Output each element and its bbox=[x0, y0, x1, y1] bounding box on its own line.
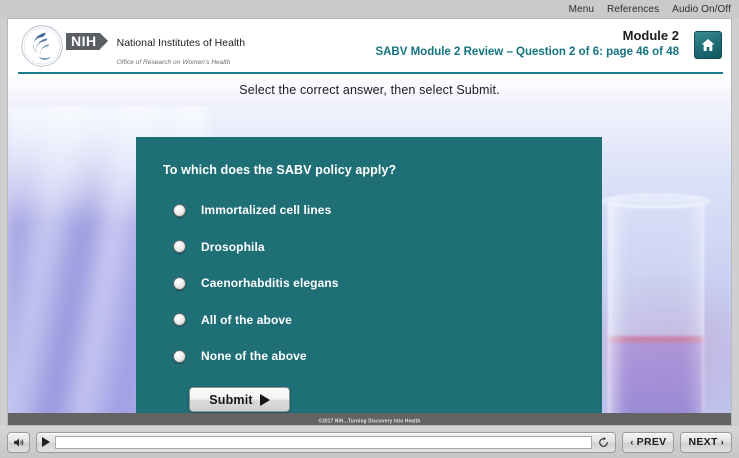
instruction-text: Select the correct answer, then select S… bbox=[239, 83, 500, 97]
office-name: Office of Research on Women's Health bbox=[117, 59, 231, 66]
replay-icon[interactable] bbox=[597, 436, 610, 449]
answer-option-label: Immortalized cell lines bbox=[201, 203, 331, 217]
progress-track[interactable] bbox=[55, 436, 592, 449]
question-panel: To which does the SABV policy apply? Imm… bbox=[136, 137, 602, 426]
home-button[interactable] bbox=[694, 31, 722, 59]
answer-option-1[interactable]: Immortalized cell lines bbox=[173, 192, 573, 229]
menu-link-menu[interactable]: Menu bbox=[569, 4, 594, 15]
breadcrumb: SABV Module 2 Review – Question 2 of 6: … bbox=[375, 44, 679, 60]
page-header: NIH National Institutes of Health Office… bbox=[8, 19, 731, 72]
play-triangle-icon bbox=[260, 394, 270, 406]
radio-button-icon[interactable] bbox=[173, 204, 186, 217]
scrubber[interactable] bbox=[36, 432, 616, 453]
module-title: Module 2 bbox=[375, 27, 679, 44]
elearning-player-window: Menu References Audio On/Off NIH Nationa… bbox=[0, 0, 739, 458]
beaker-rim-graphic bbox=[602, 194, 710, 208]
radio-button-icon[interactable] bbox=[173, 350, 186, 363]
menu-link-audio-on-off[interactable]: Audio On/Off bbox=[672, 4, 731, 15]
answer-option-2[interactable]: Drosophila bbox=[173, 229, 573, 266]
answer-option-label: Drosophila bbox=[201, 240, 265, 254]
playback-control-bar: ‹ PREV NEXT › bbox=[0, 426, 739, 458]
copyright-bar: ©2017 NIH...Turning Discovery Into Healt… bbox=[8, 413, 731, 426]
header-titles: Module 2 SABV Module 2 Review – Question… bbox=[375, 27, 679, 60]
submit-button[interactable]: Submit bbox=[189, 387, 290, 412]
answer-options: Immortalized cell lines Drosophila Caeno… bbox=[173, 192, 573, 375]
answer-option-5[interactable]: None of the above bbox=[173, 338, 573, 375]
nih-mark: NIH bbox=[66, 33, 100, 50]
copyright-text: ©2017 NIH...Turning Discovery Into Healt… bbox=[319, 417, 421, 423]
question-text: To which does the SABV policy apply? bbox=[163, 163, 396, 177]
top-menu-strip: Menu References Audio On/Off bbox=[0, 0, 739, 18]
answer-option-label: All of the above bbox=[201, 313, 292, 327]
prev-button[interactable]: ‹ PREV bbox=[622, 432, 674, 453]
next-button[interactable]: NEXT › bbox=[680, 432, 732, 453]
answer-option-label: None of the above bbox=[201, 349, 307, 363]
answer-option-label: Caenorhabditis elegans bbox=[201, 276, 339, 290]
hhs-seal-icon bbox=[20, 24, 64, 68]
radio-button-icon[interactable] bbox=[173, 313, 186, 326]
chevron-left-icon: ‹ bbox=[630, 437, 633, 447]
agency-name: National Institutes of Health bbox=[117, 37, 245, 49]
next-button-label: NEXT bbox=[688, 436, 717, 448]
play-icon[interactable] bbox=[42, 437, 50, 447]
beaker-graphic bbox=[608, 198, 704, 426]
slide-stage: Select the correct answer, then select S… bbox=[8, 74, 731, 426]
player-frame: NIH National Institutes of Health Office… bbox=[7, 18, 732, 426]
speaker-icon bbox=[12, 436, 25, 449]
menu-link-references[interactable]: References bbox=[607, 4, 659, 15]
instruction-band: Select the correct answer, then select S… bbox=[8, 74, 731, 106]
radio-button-icon[interactable] bbox=[173, 277, 186, 290]
prev-button-label: PREV bbox=[637, 436, 667, 448]
volume-button[interactable] bbox=[7, 432, 30, 453]
submit-button-label: Submit bbox=[209, 393, 253, 407]
answer-option-4[interactable]: All of the above bbox=[173, 302, 573, 339]
chevron-right-icon: › bbox=[721, 437, 724, 447]
nih-logo: NIH National Institutes of Health Office… bbox=[66, 33, 245, 69]
answer-option-3[interactable]: Caenorhabditis elegans bbox=[173, 265, 573, 302]
radio-button-icon[interactable] bbox=[173, 240, 186, 253]
home-icon bbox=[700, 37, 716, 53]
